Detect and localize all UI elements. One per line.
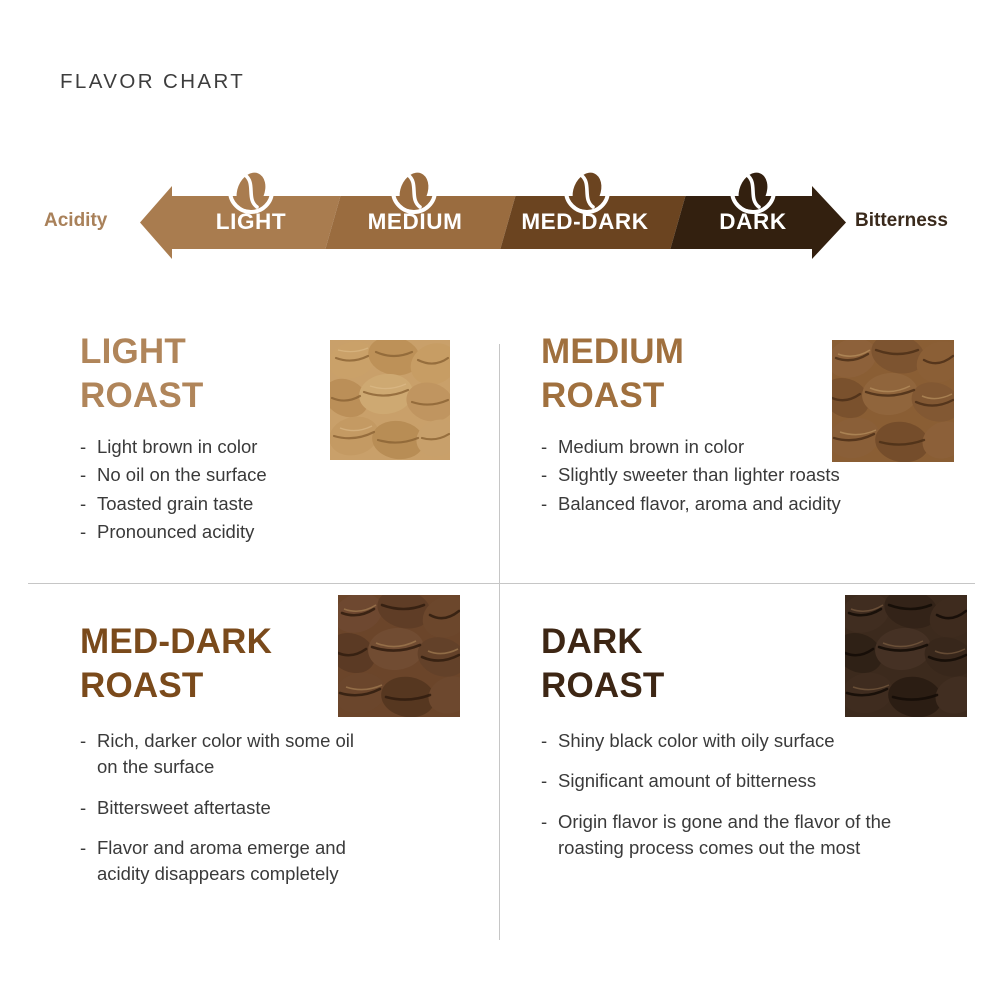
page-title: FLAVOR CHART [60, 70, 245, 94]
list-item: Bittersweet aftertaste [80, 795, 397, 821]
list-item: Origin flavor is gone and the flavor of … [541, 809, 928, 862]
divider-vertical [499, 344, 500, 940]
list-item: Medium brown in color [541, 434, 971, 460]
bullet-list-light-roast: Light brown in color No oil on the surfa… [80, 434, 480, 545]
bullet-list-medium-roast: Medium brown in color Slightly sweeter t… [541, 434, 971, 517]
bullet-list-dark-roast: Shiny black color with oily surface Sign… [541, 728, 971, 861]
panel-light-roast: LIGHT ROAST Light brown in color No oil … [80, 330, 480, 547]
list-item: Shiny black color with oily surface [541, 728, 938, 754]
list-item: Toasted grain taste [80, 491, 480, 517]
list-item: Slightly sweeter than lighter roasts [541, 462, 971, 488]
list-item: No oil on the surface [80, 462, 480, 488]
scale-label-bitterness: Bitterness [855, 210, 948, 232]
panel-heading-medium-roast: MEDIUM ROAST [541, 330, 971, 418]
coffee-bean-icon [564, 168, 610, 214]
panel-dark-roast: DARK ROAST Shiny black color with oily s… [541, 620, 971, 875]
coffee-bean-icon [228, 168, 274, 214]
scale-label-acidity: Acidity [44, 210, 107, 232]
bullet-list-med-dark-roast: Rich, darker color with some oil on the … [80, 728, 480, 887]
roast-scale-arrow [0, 180, 1001, 275]
coffee-bean-icon [730, 168, 776, 214]
list-item: Significant amount of bitterness [541, 768, 938, 794]
panel-heading-light-roast: LIGHT ROAST [80, 330, 480, 418]
panel-heading-dark-roast: DARK ROAST [541, 620, 971, 708]
roast-scale: Acidity Bitterness LIGHT MEDIUM MED-DARK… [0, 180, 1001, 275]
list-item: Rich, darker color with some oil on the … [80, 728, 357, 781]
list-item: Pronounced acidity [80, 519, 480, 545]
list-item: Light brown in color [80, 434, 480, 460]
list-item: Flavor and aroma emerge and acidity disa… [80, 835, 375, 888]
panel-med-dark-roast: MED-DARK ROAST Rich, darker color with s… [80, 620, 480, 902]
coffee-bean-icon [391, 168, 437, 214]
divider-horizontal [28, 583, 975, 584]
list-item: Balanced flavor, aroma and acidity [541, 491, 971, 517]
panel-heading-med-dark-roast: MED-DARK ROAST [80, 620, 480, 708]
